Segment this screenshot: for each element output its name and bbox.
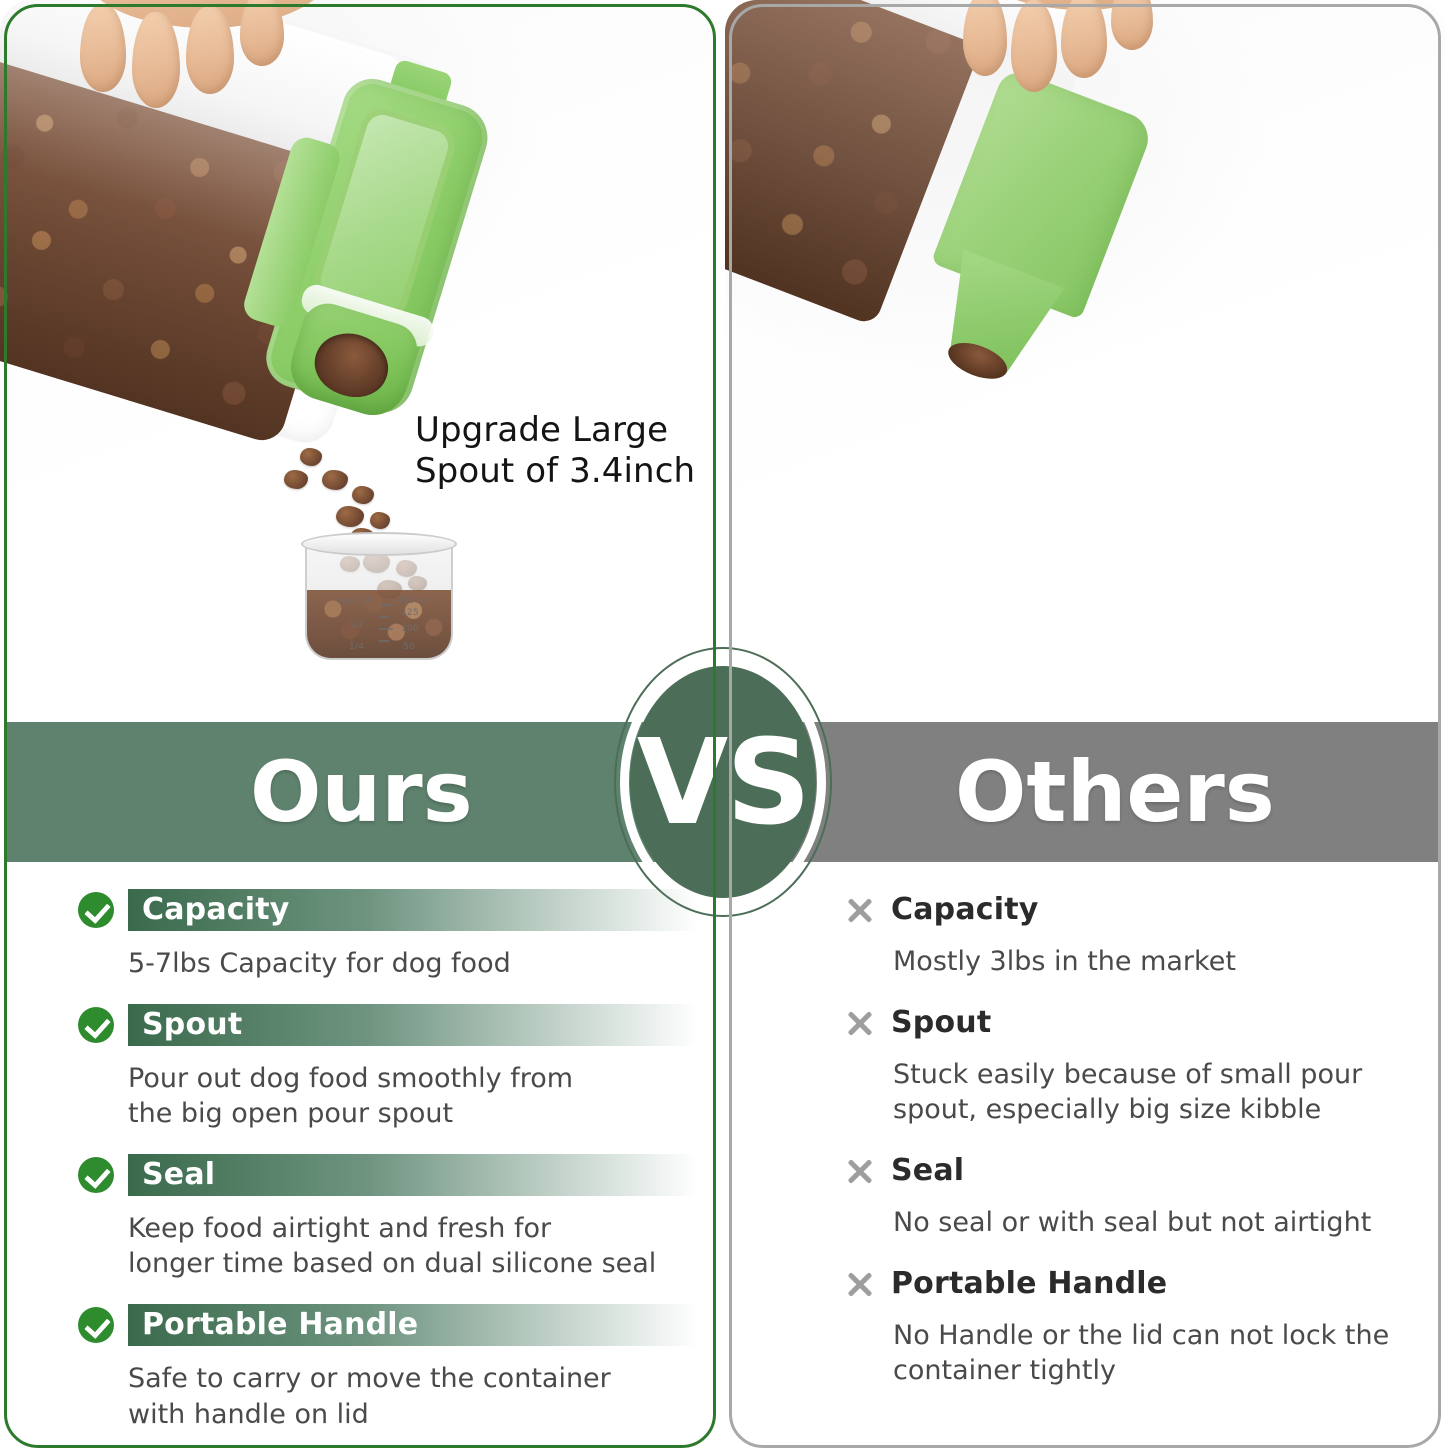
feature-item-capacity: Capacity Mostly 3lbs in the market — [843, 888, 1443, 979]
feature-title: Seal — [891, 1156, 964, 1186]
feature-title: Seal — [142, 1160, 215, 1190]
check-icon — [78, 1157, 114, 1193]
x-icon — [843, 1006, 877, 1040]
feature-item-seal: Seal Keep food airtight and fresh for lo… — [78, 1153, 698, 1281]
feature-header: Portable Handle — [843, 1262, 1443, 1306]
x-icon — [843, 1267, 877, 1301]
feature-title-bar: Portable Handle — [128, 1304, 698, 1346]
feature-title: Spout — [891, 1008, 991, 1038]
feature-description: 5-7lbs Capacity for dog food — [128, 946, 698, 981]
feature-header: Seal — [78, 1153, 698, 1197]
feature-item-portable-handle: Portable Handle Safe to carry or move th… — [78, 1303, 698, 1431]
feature-title-bar: Capacity — [128, 889, 698, 931]
check-icon — [78, 892, 114, 928]
feature-item-spout: Spout Pour out dog food smoothly from th… — [78, 1003, 698, 1131]
feature-item-capacity: Capacity 5-7lbs Capacity for dog food — [78, 888, 698, 981]
feature-title: Portable Handle — [891, 1269, 1167, 1299]
feature-description: Pour out dog food smoothly from the big … — [128, 1061, 698, 1131]
feature-description: No seal or with seal but not airtight — [893, 1205, 1443, 1240]
feature-item-spout: Spout Stuck easily because of small pour… — [843, 1001, 1443, 1127]
feature-title: Capacity — [891, 895, 1039, 925]
check-icon — [78, 1307, 114, 1343]
feature-description: Mostly 3lbs in the market — [893, 944, 1443, 979]
feature-title-bar: Seal — [128, 1154, 698, 1196]
feature-header: Capacity — [843, 888, 1443, 932]
feature-header: Spout — [78, 1003, 698, 1047]
feature-title: Capacity — [142, 895, 290, 925]
x-icon — [843, 1154, 877, 1188]
ours-feature-list: Capacity 5-7lbs Capacity for dog food Sp… — [78, 888, 698, 1454]
feature-item-seal: Seal No seal or with seal but not airtig… — [843, 1149, 1443, 1240]
x-icon — [843, 893, 877, 927]
feature-description: Keep food airtight and fresh for longer … — [128, 1211, 698, 1281]
check-icon — [78, 1007, 114, 1043]
feature-header: Seal — [843, 1149, 1443, 1193]
feature-title: Spout — [142, 1010, 242, 1040]
feature-header: Portable Handle — [78, 1303, 698, 1347]
others-feature-list: Capacity Mostly 3lbs in the market Spout… — [843, 888, 1443, 1411]
feature-header: Capacity — [78, 888, 698, 932]
feature-header: Spout — [843, 1001, 1443, 1045]
feature-description: Stuck easily because of small pour spout… — [893, 1057, 1443, 1127]
feature-title: Portable Handle — [142, 1310, 418, 1340]
comparison-infographic: cup 3/4 180 ml 1/2 125 1/4 100 50 Upgrad… — [0, 0, 1445, 1453]
feature-title-bar: Spout — [128, 1004, 698, 1046]
feature-description: No Handle or the lid can not lock the co… — [893, 1318, 1443, 1388]
feature-description: Safe to carry or move the container with… — [128, 1361, 698, 1431]
feature-item-portable-handle: Portable Handle No Handle or the lid can… — [843, 1262, 1443, 1388]
